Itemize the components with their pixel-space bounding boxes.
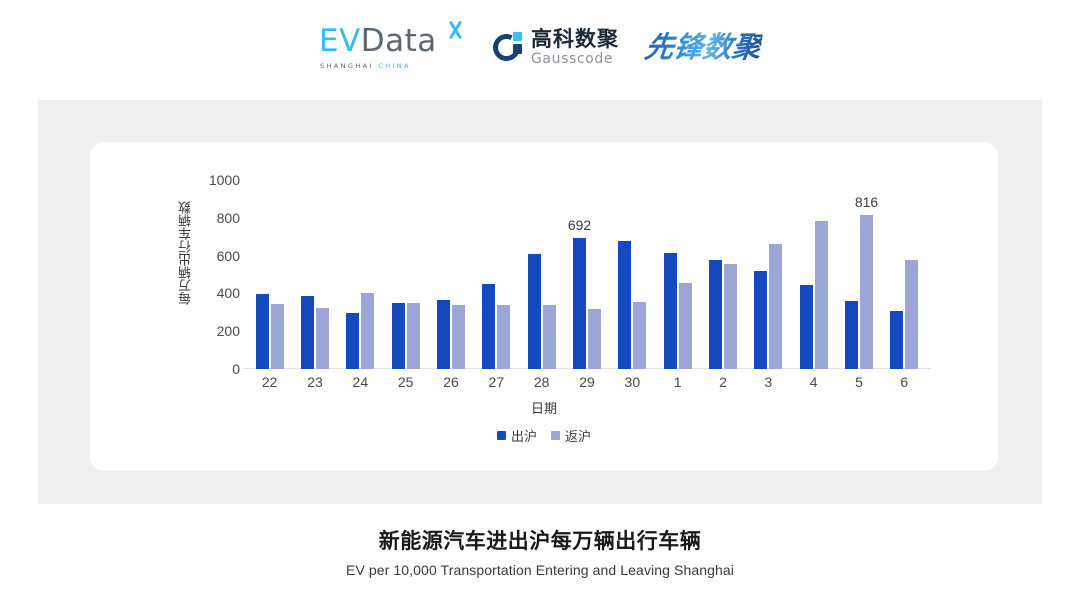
- x-axis-tick-label: 2: [719, 374, 727, 390]
- bar-出沪: [482, 284, 495, 369]
- bar-group: [301, 180, 329, 369]
- bar-chart: 每万辆出行车辆数 10008006004002000 692816 222324…: [90, 142, 998, 471]
- bar-返沪: [588, 309, 601, 369]
- gausscode-dark-square-icon: [513, 44, 522, 54]
- x-axis-tick-label: 6: [900, 374, 908, 390]
- bar-出沪: [709, 260, 722, 369]
- gausscode-accent-square-icon: [513, 32, 522, 41]
- legend-label: 出沪: [511, 426, 537, 445]
- x-axis-tick-label: 26: [443, 374, 459, 390]
- bar-group: [754, 180, 782, 369]
- bar-出沪: [256, 294, 269, 369]
- x-axis-tick-label: 22: [262, 374, 278, 390]
- x-axis-title: 日期: [90, 398, 998, 417]
- bar-返沪: [497, 305, 510, 369]
- evdata-tagline-shanghai: SHANGHAI: [320, 62, 374, 70]
- y-axis-tick-label: 0: [232, 361, 240, 377]
- evdata-tagline-china: CHINA: [378, 62, 411, 70]
- x-axis-ticks: 222324252627282930123456: [247, 374, 927, 394]
- bar-出沪: [890, 311, 903, 369]
- bar-返沪: [543, 305, 556, 369]
- chart-card: 每万辆出行车辆数 10008006004002000 692816 222324…: [90, 142, 998, 471]
- x-axis-tick-label: 27: [489, 374, 505, 390]
- x-axis-tick-label: 3: [764, 374, 772, 390]
- x-axis-tick-label: 24: [353, 374, 369, 390]
- gausscode-mark-icon: [493, 32, 523, 62]
- bar-group: [482, 180, 510, 369]
- bar-group: [392, 180, 420, 369]
- bar-group: [709, 180, 737, 369]
- logo-bar: EVData SHANGHAI CHINA 高科数聚 Gausscode 先锋数…: [0, 0, 1080, 94]
- bar-返沪: [679, 283, 692, 369]
- bar-返沪: [815, 221, 828, 369]
- bar-group: [664, 180, 692, 369]
- gausscode-cn-name: 高科数聚: [531, 28, 619, 51]
- x-axis-tick-label: 4: [810, 374, 818, 390]
- evdata-wordmark: EVData: [319, 25, 437, 57]
- evdata-tagline: SHANGHAI CHINA: [320, 62, 411, 70]
- bar-出沪: [618, 241, 631, 369]
- bar-出沪: [346, 313, 359, 369]
- bar-group: 692: [573, 180, 601, 369]
- legend-label: 返沪: [565, 426, 591, 445]
- slide-root: EVData SHANGHAI CHINA 高科数聚 Gausscode 先锋数…: [0, 0, 1080, 608]
- legend-item-出沪[interactable]: 出沪: [497, 426, 537, 445]
- legend-swatch-icon: [551, 431, 560, 440]
- bar-group: [528, 180, 556, 369]
- bar-出沪: [437, 300, 450, 369]
- bar-出沪: [754, 271, 767, 369]
- chart-legend: 出沪返沪: [90, 426, 998, 445]
- bar-出沪: [301, 296, 314, 369]
- x-axis-tick-label: 1: [674, 374, 682, 390]
- bar-返沪: [316, 308, 329, 369]
- legend-swatch-icon: [497, 431, 506, 440]
- y-axis-title: 每万辆出行车辆数: [176, 178, 192, 328]
- bar-返沪: [452, 305, 465, 369]
- bar-value-label: 692: [568, 217, 591, 233]
- bar-出沪: [664, 253, 677, 369]
- bar-出沪: [392, 303, 405, 369]
- y-axis-ticks: 10008006004002000: [194, 172, 240, 372]
- evdata-data-text: Data: [361, 23, 437, 59]
- y-axis-tick-label: 800: [217, 210, 240, 226]
- bar-返沪: [361, 293, 374, 369]
- bar-返沪: [271, 304, 284, 369]
- y-axis-tick-label: 400: [217, 285, 240, 301]
- caption-block: 新能源汽车进出沪每万辆出行车辆 EV per 10,000 Transporta…: [0, 528, 1080, 581]
- bar-返沪: [905, 260, 918, 369]
- y-axis-tick-label: 600: [217, 248, 240, 264]
- bar-group: [346, 180, 374, 369]
- y-axis-tick-label: 1000: [209, 172, 240, 188]
- bar-出沪: [528, 254, 541, 369]
- bar-返沪: [860, 215, 873, 369]
- bar-出沪: [800, 285, 813, 369]
- gausscode-logo: 高科数聚 Gausscode: [493, 24, 619, 70]
- bar-group: [890, 180, 918, 369]
- xianfeng-logo: 先锋数聚: [643, 30, 764, 64]
- x-axis-tick-label: 29: [579, 374, 595, 390]
- y-axis-tick-label: 200: [217, 323, 240, 339]
- plot-area: 692816: [247, 180, 927, 369]
- gausscode-en-name: Gausscode: [531, 51, 619, 67]
- caption-title-en: EV per 10,000 Transportation Entering an…: [0, 559, 1080, 581]
- bar-出沪: [845, 301, 858, 369]
- bar-group: [437, 180, 465, 369]
- x-axis-tick-label: 28: [534, 374, 550, 390]
- x-axis-tick-label: 25: [398, 374, 414, 390]
- bar-group: [256, 180, 284, 369]
- evdata-cross-icon: [446, 20, 466, 40]
- caption-title-cn: 新能源汽车进出沪每万辆出行车辆: [0, 528, 1080, 556]
- x-axis-tick-label: 5: [855, 374, 863, 390]
- bar-返沪: [769, 244, 782, 369]
- bar-返沪: [633, 302, 646, 369]
- bar-group: [618, 180, 646, 369]
- bar-value-label: 816: [855, 194, 878, 210]
- bar-返沪: [724, 264, 737, 369]
- bar-返沪: [407, 303, 420, 369]
- evdata-ev-text: EV: [319, 23, 361, 59]
- gausscode-text-block: 高科数聚 Gausscode: [531, 28, 619, 67]
- evdata-logo: EVData SHANGHAI CHINA: [319, 23, 467, 71]
- x-axis-tick-label: 23: [307, 374, 323, 390]
- bar-group: 816: [845, 180, 873, 369]
- bar-group: [800, 180, 828, 369]
- legend-item-返沪[interactable]: 返沪: [551, 426, 591, 445]
- bar-出沪: [573, 238, 586, 369]
- x-axis-tick-label: 30: [625, 374, 641, 390]
